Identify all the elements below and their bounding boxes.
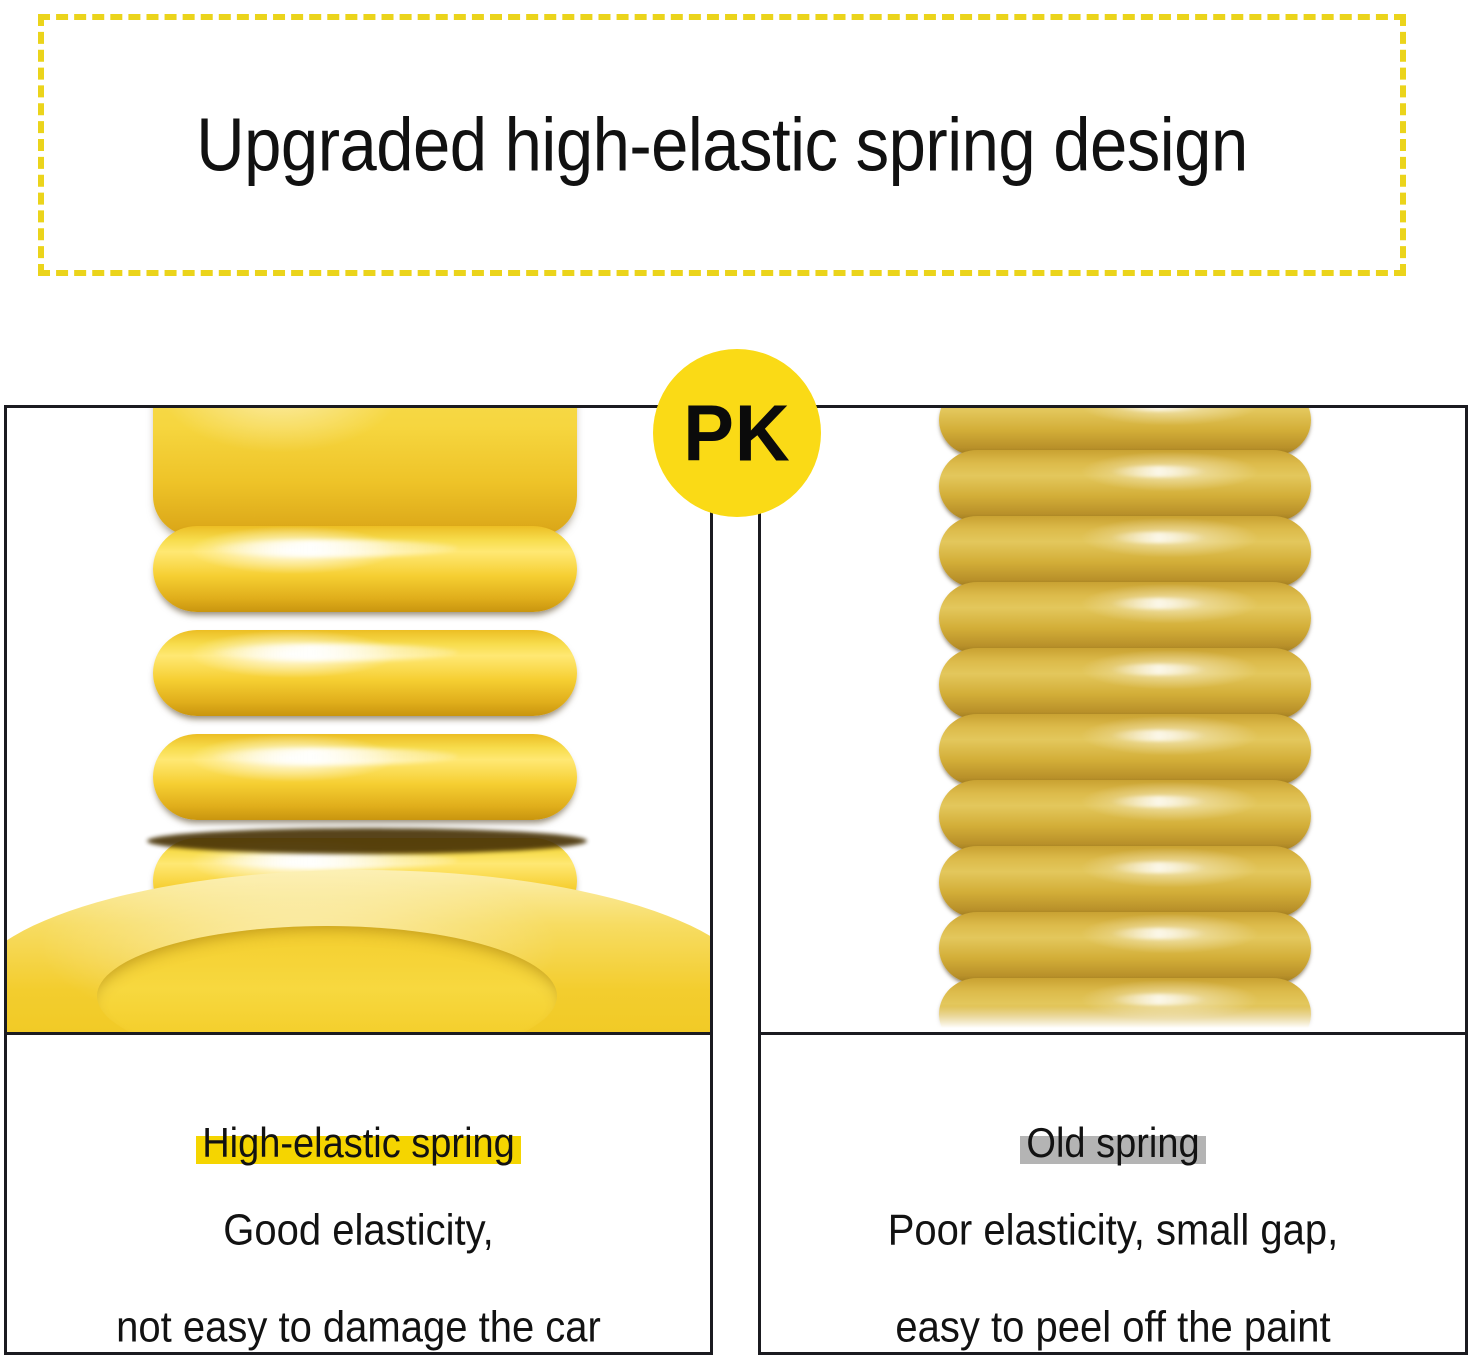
spring-top-block (153, 408, 577, 536)
spring-coil (153, 526, 577, 612)
spring-coil (939, 648, 1311, 720)
left-heading: High-elastic spring (202, 1121, 515, 1168)
spring-coil (939, 846, 1311, 918)
left-caption-line-1: Good elasticity, (7, 1206, 710, 1256)
comparison-section: High-elastic spring Good elasticity, not… (0, 0, 1472, 1365)
right-heading: Old spring (1026, 1121, 1199, 1168)
left-heading-wrap: High-elastic spring (196, 1123, 521, 1166)
right-caption-line-1: Poor elasticity, small gap, (761, 1206, 1465, 1256)
right-heading-wrap: Old spring (1020, 1123, 1205, 1166)
spring-base-inner (97, 926, 557, 1032)
spring-coil (153, 630, 577, 716)
comparison-panel-left: High-elastic spring Good elasticity, not… (4, 405, 713, 1355)
spring-coil (939, 408, 1311, 456)
spring-coil (939, 714, 1311, 786)
spring-coil (939, 582, 1311, 654)
comparison-panel-right: Old spring Poor elasticity, small gap, e… (758, 405, 1468, 1355)
right-spring-photo (761, 408, 1465, 1035)
pk-badge-label: PK (683, 387, 791, 478)
right-caption-block: Old spring Poor elasticity, small gap, e… (761, 1035, 1465, 1352)
right-caption-line-2: easy to peel off the paint (761, 1303, 1465, 1353)
left-caption-line-2: not easy to damage the car (7, 1303, 710, 1353)
pk-badge: PK (653, 349, 821, 517)
old-spring-illustration (761, 408, 1465, 1032)
spring-coil (939, 780, 1311, 852)
photo-bottom-fade (761, 1006, 1465, 1032)
spring-base-shadow (147, 828, 587, 854)
spring-coil (153, 734, 577, 820)
left-caption-block: High-elastic spring Good elasticity, not… (7, 1035, 710, 1352)
spring-coil (939, 516, 1311, 588)
spring-coil (939, 912, 1311, 984)
product-comparison-page: Upgraded high-elastic spring design (0, 0, 1472, 1365)
spring-base (7, 870, 710, 1032)
spring-coil (939, 450, 1311, 522)
high-elastic-spring-illustration (7, 408, 710, 1032)
left-spring-photo (7, 408, 710, 1035)
